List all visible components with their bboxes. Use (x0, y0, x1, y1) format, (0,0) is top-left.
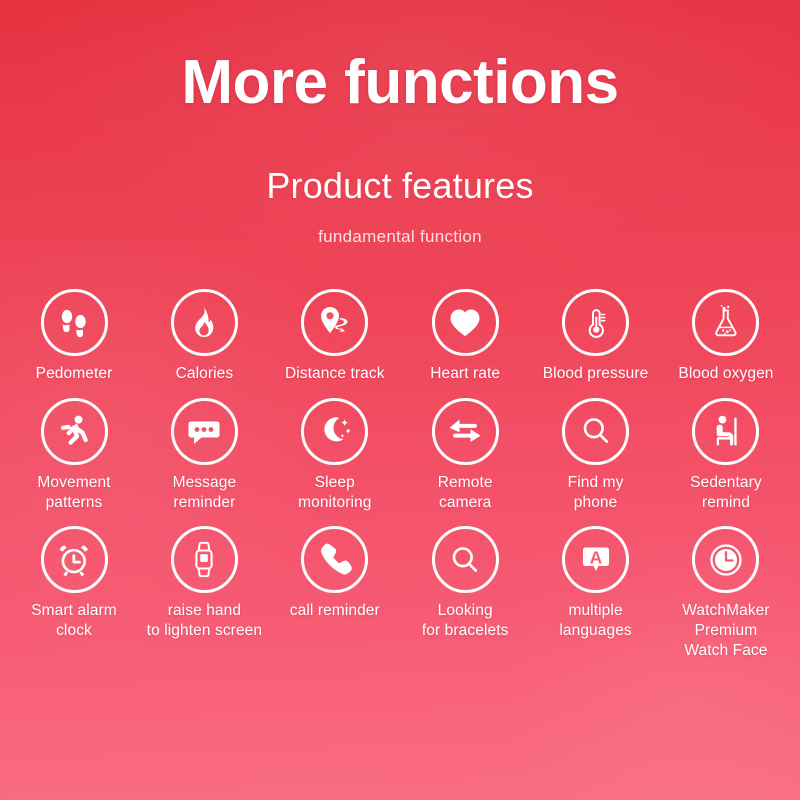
feature-item-watchmaker-premium-watch-face[interactable]: WatchMaker Premium Watch Face (662, 526, 790, 660)
footprints-icon (41, 289, 108, 356)
product-features-poster: More functions Product features fundamen… (0, 0, 800, 800)
feature-label: Movement patterns (37, 473, 110, 513)
clock-face-icon (692, 526, 759, 593)
feature-label: Distance track (285, 364, 385, 384)
feature-item-pedometer[interactable]: Pedometer (10, 289, 138, 384)
feature-item-sedentary-remind[interactable]: Sedentary remind (662, 398, 790, 513)
feature-label: Heart rate (430, 364, 500, 384)
magnifier-icon (432, 526, 499, 593)
thermometer-icon (562, 289, 629, 356)
feature-label: Find my phone (568, 473, 624, 513)
heart-icon (432, 289, 499, 356)
magnifier-icon (562, 398, 629, 465)
section-title: Product features (0, 168, 800, 204)
feature-row: Pedometer Calories (10, 289, 790, 384)
feature-item-message-reminder[interactable]: Message reminder (140, 398, 268, 513)
feature-item-sleep-monitoring[interactable]: Sleep monitoring (271, 398, 399, 513)
page-title: More functions (0, 0, 800, 114)
feature-item-multiple-languages[interactable]: A multiple languages (532, 526, 660, 641)
feature-label: Sleep monitoring (298, 473, 371, 513)
feature-grid: Pedometer Calories (0, 289, 800, 661)
feature-item-calories[interactable]: Calories (140, 289, 268, 384)
seated-person-icon (692, 398, 759, 465)
feature-label: WatchMaker Premium Watch Face (682, 601, 769, 660)
alarm-clock-icon (41, 526, 108, 593)
flame-icon (171, 289, 238, 356)
feature-item-movement-patterns[interactable]: Movement patterns (10, 398, 138, 513)
feature-item-looking-for-bracelets[interactable]: Looking for bracelets (401, 526, 529, 641)
language-bubble-icon: A (562, 526, 629, 593)
feature-item-blood-oxygen[interactable]: Blood oxygen (662, 289, 790, 384)
running-person-icon (41, 398, 108, 465)
flask-icon (692, 289, 759, 356)
feature-label: Blood oxygen (678, 364, 773, 384)
moon-stars-icon (301, 398, 368, 465)
feature-item-distance-track[interactable]: Distance track (271, 289, 399, 384)
feature-label: Blood pressure (543, 364, 649, 384)
feature-item-raise-hand-lighten-screen[interactable]: raise hand to lighten screen (140, 526, 268, 641)
smartwatch-icon (171, 526, 238, 593)
feature-label: Remote camera (438, 473, 493, 513)
feature-row: Movement patterns Message reminder (10, 398, 790, 513)
feature-label: Looking for bracelets (422, 601, 509, 641)
feature-label: Smart alarm clock (31, 601, 117, 641)
feature-label: raise hand to lighten screen (147, 601, 262, 641)
feature-item-find-my-phone[interactable]: Find my phone (532, 398, 660, 513)
feature-item-heart-rate[interactable]: Heart rate (401, 289, 529, 384)
chat-bubble-icon (171, 398, 238, 465)
feature-label: multiple languages (559, 601, 631, 641)
section-subtitle: fundamental function (0, 228, 800, 245)
feature-item-blood-pressure[interactable]: Blood pressure (532, 289, 660, 384)
feature-item-remote-camera[interactable]: Remote camera (401, 398, 529, 513)
feature-item-smart-alarm-clock[interactable]: Smart alarm clock (10, 526, 138, 641)
map-pin-path-icon (301, 289, 368, 356)
phone-handset-icon (301, 526, 368, 593)
feature-row: Smart alarm clock raise hand to lighten … (10, 526, 790, 660)
feature-item-call-reminder[interactable]: call reminder (271, 526, 399, 621)
feature-label: Message reminder (173, 473, 237, 513)
feature-label: Pedometer (36, 364, 113, 384)
feature-label: Sedentary remind (690, 473, 762, 513)
feature-label: call reminder (290, 601, 380, 621)
svg-text:A: A (589, 547, 602, 567)
feature-label: Calories (176, 364, 234, 384)
two-way-arrows-icon (432, 398, 499, 465)
